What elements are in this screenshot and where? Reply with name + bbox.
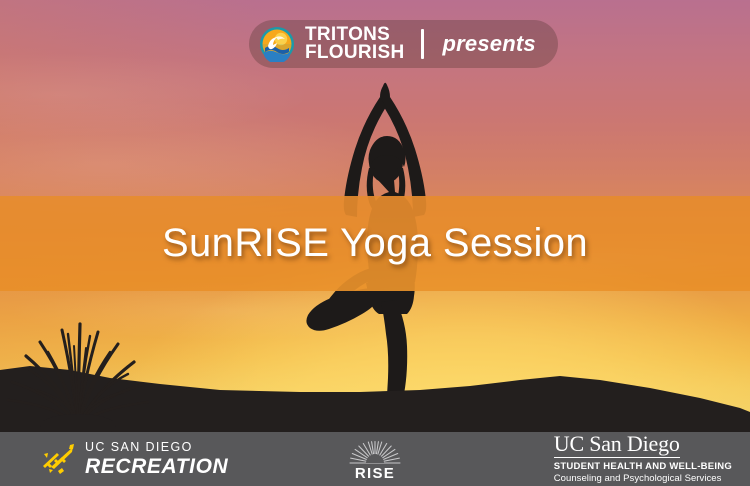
brand-wordmark: TRITONS FLOURISH xyxy=(305,26,405,61)
student-health-line-3: Counseling and Psychological Services xyxy=(554,473,722,484)
student-health-wordmark: UC San Diego STUDENT HEALTH AND WELL-BEI… xyxy=(554,433,732,484)
ucsd-wordmark: UC San Diego xyxy=(554,433,680,458)
presents-label: presents xyxy=(443,31,536,57)
rise-sunburst-icon xyxy=(349,437,401,464)
poster: SunRISE Yoga Session TRITONS FLOURISH pr… xyxy=(0,0,750,486)
page-title: SunRISE Yoga Session xyxy=(0,196,750,291)
grass-bush-silhouette xyxy=(6,316,151,432)
rise-logo-block: RISE xyxy=(349,437,401,482)
student-health-line-2: STUDENT HEALTH AND WELL-BEING xyxy=(554,462,732,473)
presents-pill: TRITONS FLOURISH presents xyxy=(249,20,558,68)
footer-bar: UC SAN DIEGO RECREATION xyxy=(0,432,750,486)
brand-line-2: FLOURISH xyxy=(305,44,405,62)
student-health-logo: UC San Diego STUDENT HEALTH AND WELL-BEI… xyxy=(554,432,732,486)
tritons-flourish-logo-icon xyxy=(259,26,295,62)
pill-divider xyxy=(421,29,424,59)
rise-label: RISE xyxy=(355,465,395,482)
